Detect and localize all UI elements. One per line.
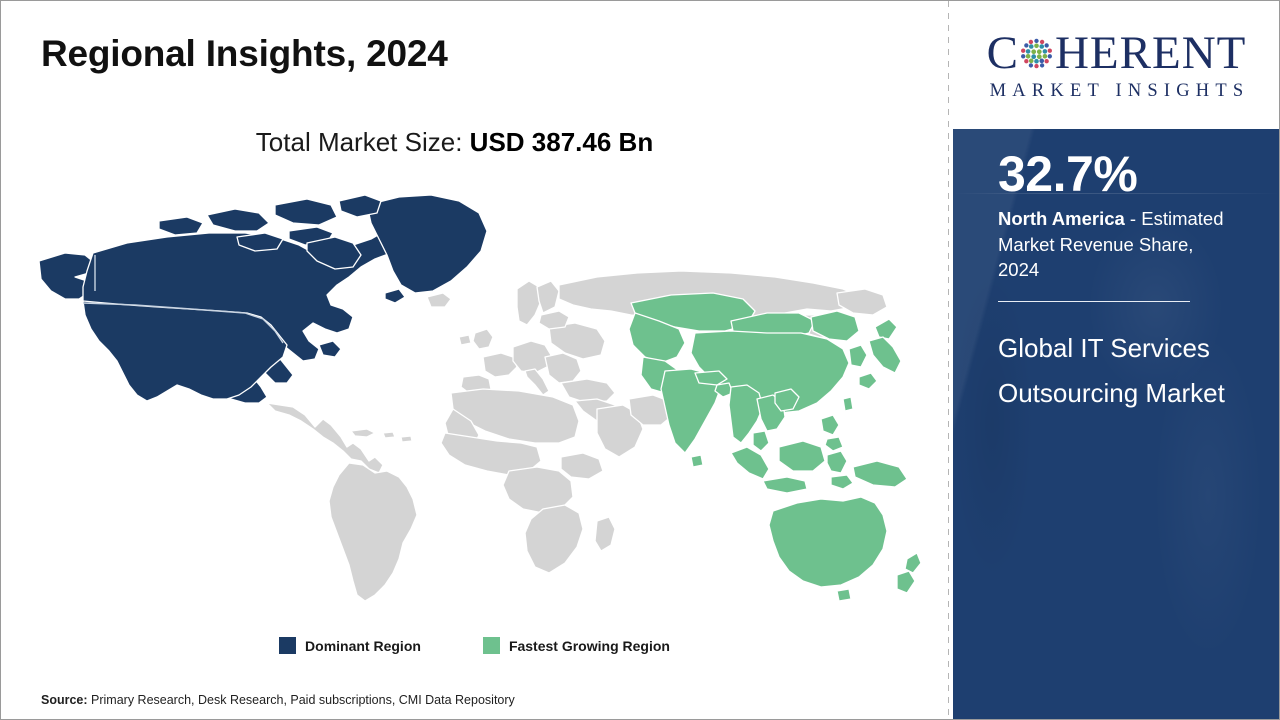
source-label: Source: [41,693,88,707]
legend-item-fastest-growing: Fastest Growing Region [483,637,670,654]
brand-logo: C [953,2,1280,129]
square-swatch-icon [279,637,296,654]
market-name: Global IT Services Outsourcing Market [998,326,1238,416]
legend-label-fastest-growing: Fastest Growing Region [509,638,670,654]
legend-label-dominant: Dominant Region [305,638,421,654]
vertical-dashed-divider [948,1,949,720]
square-swatch-icon [483,637,500,654]
stat-description: North America - Estimated Market Revenue… [998,206,1238,283]
dotted-globe-icon [1019,36,1054,71]
legend-item-dominant: Dominant Region [279,637,421,654]
map-legend: Dominant Region Fastest Growing Region [1,637,948,654]
logo-wordmark: C [987,29,1247,77]
market-size-value: USD 387.46 Bn [470,127,654,157]
source-text: Primary Research, Desk Research, Paid su… [88,693,515,707]
panel-divider [998,301,1190,303]
stat-region-name: North America [998,208,1125,229]
logo-letter-c: C [987,30,1019,77]
world-map-svg [31,181,921,621]
stat-panel: 32.7% North America - Estimated Market R… [953,129,1280,720]
map-region-north-america [39,195,487,403]
world-map [31,181,921,621]
page-title: Regional Insights, 2024 [41,33,448,75]
stat-percentage: 32.7% [998,148,1238,201]
stat-panel-content: 32.7% North America - Estimated Market R… [953,148,1280,416]
source-note: Source: Primary Research, Desk Research,… [41,693,515,707]
logo-subtitle: MARKET INSIGHTS [984,81,1250,102]
logo-letters-herent: HERENT [1055,30,1246,77]
regional-insights-infographic: Regional Insights, 2024 Total Market Siz… [0,0,1280,720]
total-market-size: Total Market Size: USD 387.46 Bn [1,127,908,158]
left-content-pane: Regional Insights, 2024 Total Market Siz… [1,1,948,720]
market-size-label: Total Market Size: [256,127,463,157]
map-region-asia-pacific [629,293,921,601]
